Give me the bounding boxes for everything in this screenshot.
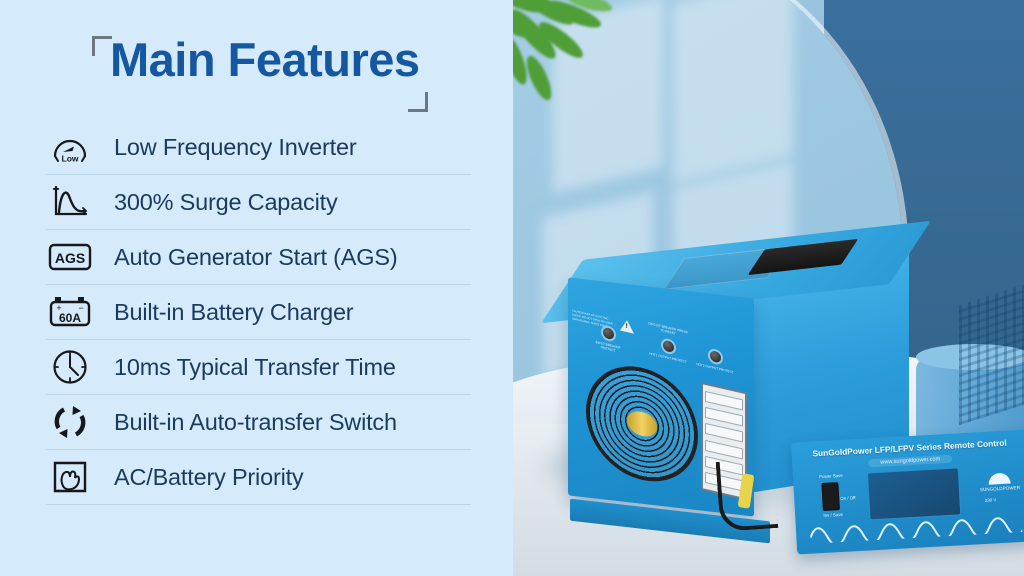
- remote-url: www.sungoldpower.com: [868, 455, 952, 468]
- surge-waveform-icon: [46, 181, 94, 223]
- svg-text:Low: Low: [62, 154, 79, 164]
- marketing-slide: Main Features Low Low Frequency Inverter: [0, 0, 1024, 576]
- feature-row: AGS Auto Generator Start (AGS): [46, 230, 471, 285]
- low-frequency-gauge-icon: Low: [46, 126, 94, 168]
- remote-power-switch[interactable]: [821, 482, 840, 511]
- features-panel: Main Features Low Low Frequency Inverter: [0, 0, 513, 576]
- feature-row: + − 60A Built-in Battery Charger: [46, 285, 471, 340]
- remote-switch-label-top: Power Save: [811, 472, 851, 479]
- cooling-fan: [586, 355, 698, 493]
- page-title-block: Main Features: [92, 36, 422, 106]
- page-title: Main Features: [110, 32, 420, 87]
- warning-triangle-icon: [620, 319, 634, 334]
- feature-label: AC/Battery Priority: [114, 464, 303, 491]
- product-photo-panel: CAUTION RISK OF ELECTRIC SHOCK DO NOT OP…: [513, 0, 1024, 576]
- feature-label: 300% Surge Capacity: [114, 189, 338, 216]
- feature-row: 300% Surge Capacity: [46, 175, 471, 230]
- window-light-patch: [673, 0, 793, 184]
- feature-label: Low Frequency Inverter: [114, 134, 356, 161]
- feature-list: Low Low Frequency Inverter 300% Surge Ca…: [46, 120, 471, 505]
- plant-leaves-icon: [513, 0, 663, 132]
- breaker-label: HOT2 OUTPUT PROTECT: [695, 363, 735, 376]
- breaker-heading: CIRCUIT BREAKER PRESS TO RESET: [648, 322, 688, 339]
- hand-select-icon: [46, 456, 94, 498]
- feature-row: 10ms Typical Transfer Time: [46, 340, 471, 395]
- brand-name: SUNGOLDPOWER: [980, 485, 1020, 492]
- feature-label: Built-in Auto-transfer Switch: [114, 409, 397, 436]
- ags-box-icon: AGS: [46, 236, 94, 278]
- feature-label: Built-in Battery Charger: [114, 299, 353, 326]
- feature-row: Built-in Auto-transfer Switch: [46, 395, 471, 450]
- feature-row: Low Low Frequency Inverter: [46, 120, 471, 175]
- ags-icon-text: AGS: [55, 250, 85, 266]
- auto-transfer-cycle-icon: [46, 401, 94, 443]
- clock-icon: [46, 346, 94, 388]
- feature-label: Auto Generator Start (AGS): [114, 244, 397, 271]
- breaker-button[interactable]: [708, 348, 723, 366]
- breaker-button[interactable]: [661, 337, 676, 355]
- sun-logo-icon: [988, 472, 1011, 484]
- remote-control-panel: SunGoldPower LFP/LFPV Series Remote Cont…: [791, 430, 1024, 555]
- bracket-bottom-right-icon: [408, 92, 428, 112]
- remote-switch-value: On / Off: [840, 494, 868, 501]
- feature-row: AC/Battery Priority: [46, 450, 471, 505]
- battery-charger-icon: + − 60A: [46, 291, 94, 333]
- sungoldpower-logo: SUNGOLDPOWER: [979, 466, 1021, 498]
- terminal-slot: [705, 423, 743, 443]
- feature-label: 10ms Typical Transfer Time: [114, 354, 396, 381]
- bracket-top-left-icon: [92, 36, 112, 56]
- breaker-label: HOT1 OUTPUT PROTECT: [648, 352, 688, 365]
- battery-amp-text: 60A: [59, 311, 81, 325]
